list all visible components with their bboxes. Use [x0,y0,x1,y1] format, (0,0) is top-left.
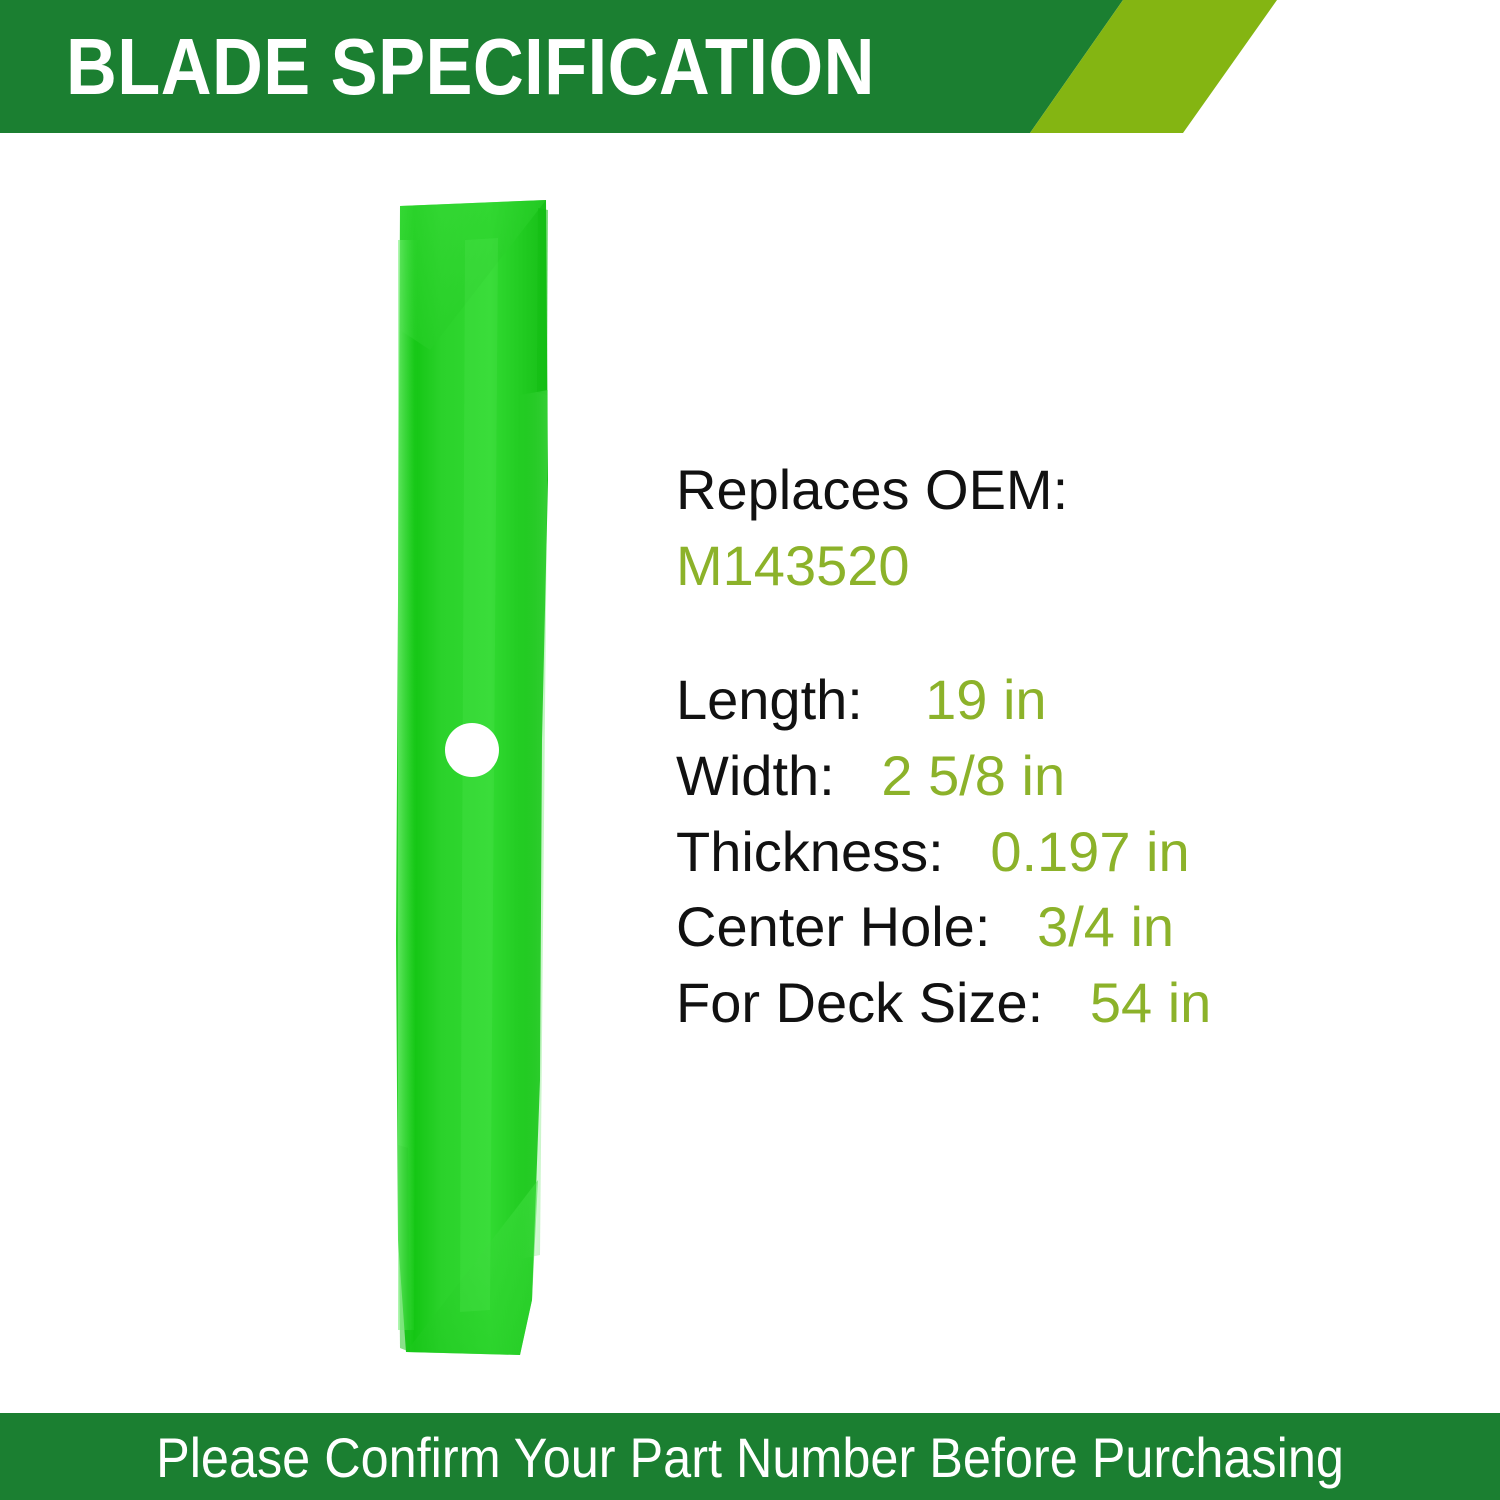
spec-label-center-hole: Center Hole: [676,895,990,958]
spec-value-width: 2 5/8 in [881,744,1065,807]
spec-row-thickness: Thickness: 0.197 in [676,814,1456,890]
spec-value-center-hole: 3/4 in [1037,895,1174,958]
spec-row-width: Width: 2 5/8 in [676,738,1456,814]
spec-row-length: Length: 19 in [676,662,1456,738]
blade-specification-page: BLADE SPECIFICATION [0,0,1500,1500]
center-mounting-hole [445,723,499,777]
specification-text-block: Replaces OEM: M143520 Length: 19 in Widt… [676,452,1456,1040]
oem-label: Replaces OEM: [676,452,1456,528]
spec-label-length: Length: [676,668,863,731]
spec-rows-list: Length: 19 in Width: 2 5/8 in Thickness:… [676,662,1456,1040]
spec-label-width: Width: [676,744,835,807]
spec-value-deck-size: 54 in [1090,971,1211,1034]
blade-top-right-lip [537,208,548,395]
spec-label-deck-size: For Deck Size: [676,971,1043,1034]
oem-part-number: M143520 [676,528,1456,604]
spec-value-length: 19 in [925,668,1046,731]
footer-notice: Please Confirm Your Part Number Before P… [75,1413,1425,1500]
footer-banner: Please Confirm Your Part Number Before P… [0,1413,1500,1500]
spec-row-center-hole: Center Hole: 3/4 in [676,889,1456,965]
header-banner: BLADE SPECIFICATION [0,0,1500,140]
blade-product-image [370,180,590,1380]
blade-illustration [370,180,590,1380]
page-title: BLADE SPECIFICATION [66,17,946,117]
blade-right-edge-highlight [516,390,548,1260]
spec-label-thickness: Thickness: [676,820,944,883]
spec-row-deck-size: For Deck Size: 54 in [676,965,1456,1041]
spec-value-thickness: 0.197 in [990,820,1189,883]
